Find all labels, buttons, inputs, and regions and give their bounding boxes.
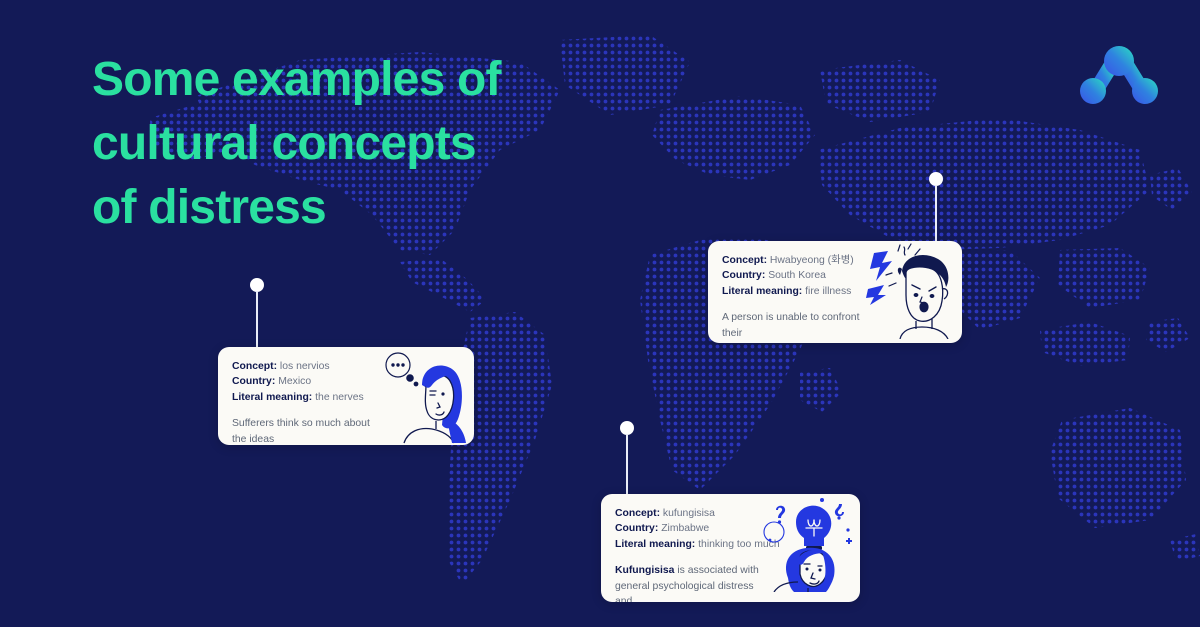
brand-logo-icon [1080,44,1158,106]
concept-row: Concept: kufungisisa [615,506,768,521]
concept-card-nervios[interactable]: Concept: los nervios Country: Mexico Lit… [218,347,474,445]
country-value: Zimbabwe [661,523,709,534]
literal-row: Literal meaning: the nerves [232,390,378,405]
country-value: Mexico [278,376,311,387]
concept-card-hwabyeong[interactable]: Concept: Hwabyeong (화병) Country: South K… [708,241,962,343]
woman-thought-bubble-icon [374,349,472,445]
concept-card-kufungisisa[interactable]: Concept: kufungisisa Country: Zimbabwe L… [601,494,860,602]
card-description: A person is unable to confront their ang… [722,310,870,343]
concept-row: Concept: Hwabyeong (화병) [722,253,870,268]
card-text-block: Concept: Hwabyeong (화병) Country: South K… [722,253,870,343]
country-value: South Korea [768,270,826,281]
concept-label: Concept: [232,361,277,372]
concept-row: Concept: los nervios [232,359,378,374]
literal-label: Literal meaning: [615,539,695,550]
country-label: Country: [615,523,658,534]
concept-label: Concept: [722,255,767,266]
literal-row: Literal meaning: thinking too much [615,537,768,552]
country-row: Country: Zimbabwe [615,521,768,536]
concept-value: kufungisisa [663,508,715,519]
angry-man-lightning-icon [862,243,960,339]
pin-head [250,278,264,292]
literal-row: Literal meaning: fire illness [722,284,870,299]
country-label: Country: [232,376,275,387]
concept-label: Concept: [615,508,660,519]
concept-value: Hwabyeong (화병) [770,255,854,266]
pin-head [929,172,943,186]
literal-value: the nerves [315,392,364,403]
title-line-3: of distress [92,176,652,240]
desc-bold-term: Kufungisisa [615,565,674,576]
desc-line-1: is associated with [674,565,758,576]
card-text-block: Concept: los nervios Country: Mexico Lit… [232,359,378,445]
literal-label: Literal meaning: [722,286,802,297]
country-row: Country: Mexico [232,374,378,389]
woman-lightbulb-questions-icon [760,496,858,592]
pin-head [620,421,634,435]
country-row: Country: South Korea [722,268,870,283]
literal-label: Literal meaning: [232,392,312,403]
card-description: Sufferers think so much about the ideas … [232,416,378,445]
desc-line-2: general psychological distress and [615,581,754,602]
card-text-block: Concept: kufungisisa Country: Zimbabwe L… [615,506,768,602]
desc-line-1: A person is unable to confront their [722,312,859,338]
page-title: Some examples of cultural concepts of di… [92,48,652,239]
desc-line-1: Sufferers think so much about the ideas [232,418,370,444]
country-label: Country: [722,270,765,281]
literal-value: fire illness [805,286,851,297]
card-description: Kufungisisa is associated with general p… [615,563,768,602]
concept-value: los nervios [280,361,330,372]
title-line-1: Some examples of [92,48,652,112]
title-line-2: cultural concepts [92,112,652,176]
infographic-canvas: Some examples of cultural concepts of di… [0,0,1200,627]
